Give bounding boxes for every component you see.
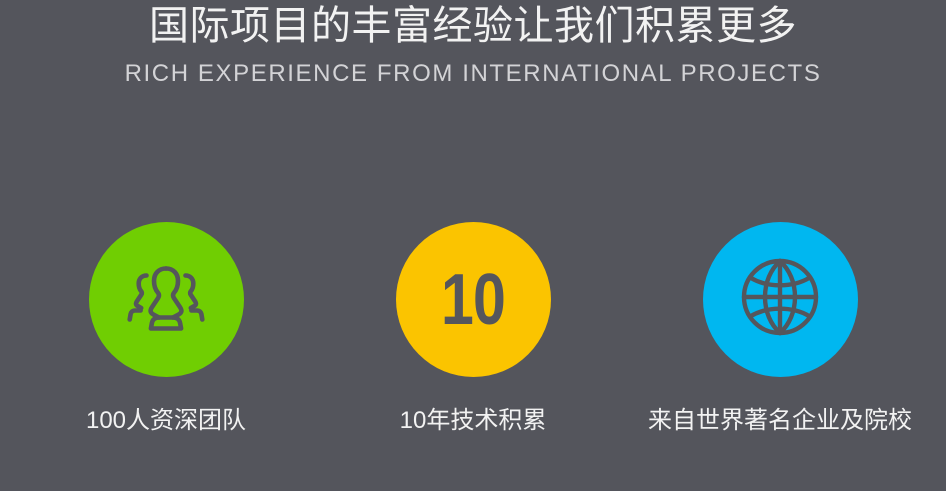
stats-row: 100人资深团队 10 10年技术积累 xyxy=(0,222,946,437)
stat-circle-team xyxy=(89,222,244,377)
stat-circle-years: 10 xyxy=(396,222,551,377)
stat-caption-origin: 来自世界著名企业及院校 xyxy=(648,407,912,435)
stat-caption-years: 10年技术积累 xyxy=(400,407,547,435)
stat-caption-team: 100人资深团队 xyxy=(86,407,246,435)
slide-header: 国际项目的丰富经验让我们积累更多 RICH EXPERIENCE FROM IN… xyxy=(0,0,946,91)
page-subtitle: RICH EXPERIENCE FROM INTERNATIONAL PROJE… xyxy=(0,57,946,91)
number-badge-icon: 10 xyxy=(441,264,505,336)
stat-item-origin: 来自世界著名企业及院校 xyxy=(627,222,934,435)
group-people-icon xyxy=(123,262,209,337)
stat-circle-origin xyxy=(703,222,858,377)
stat-item-years: 10 10年技术积累 xyxy=(320,222,627,435)
stat-item-team: 100人资深团队 xyxy=(13,222,320,435)
page-title: 国际项目的丰富经验让我们积累更多 xyxy=(0,3,946,50)
globe-icon xyxy=(740,257,820,342)
